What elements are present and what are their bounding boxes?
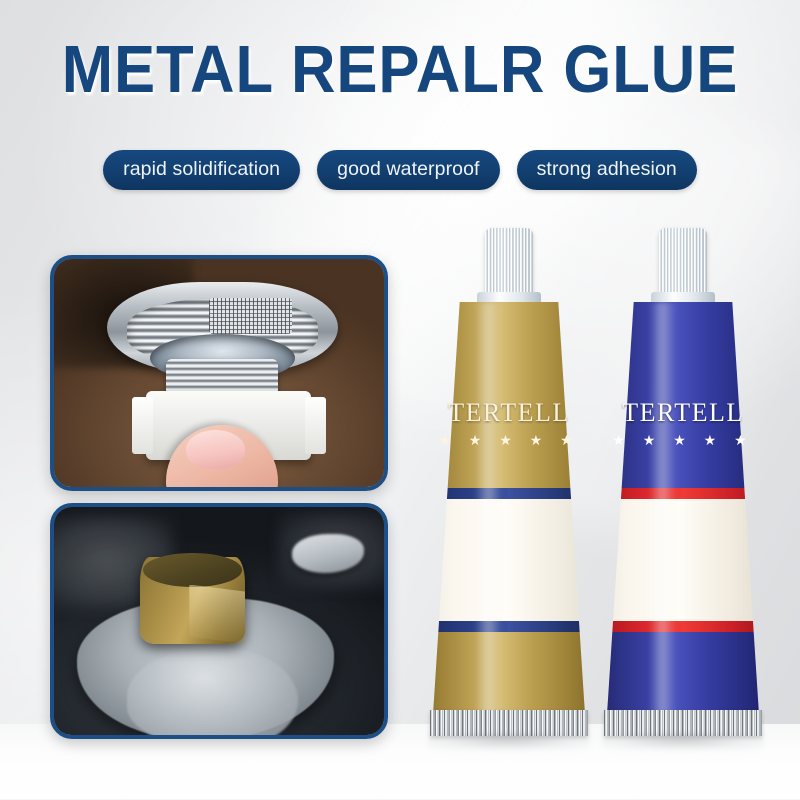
tube-stripe-bottom — [424, 621, 594, 632]
feature-badge-list: rapid solidification good waterproof str… — [0, 150, 800, 190]
feature-badge-strong-adhesion: strong adhesion — [517, 150, 697, 190]
tube-crimped-seal — [604, 710, 762, 736]
product-tube-b: TERTELL ★ ★ ★ ★ ★ B — [424, 228, 594, 733]
pipe-fitting-illustration — [54, 259, 384, 487]
tube-brand-name: TERTELL — [598, 398, 768, 428]
tube-stripe-top — [598, 488, 768, 499]
tube-body — [424, 302, 594, 722]
tube-label-band — [598, 499, 768, 621]
tube-lower-color-band — [598, 632, 768, 722]
brass-hex-bolt-facet — [189, 585, 245, 644]
tube-star-rating: ★ ★ ★ ★ ★ — [598, 432, 768, 449]
feature-badge-rapid-solidification: rapid solidification — [103, 150, 300, 190]
tube-star-rating: ★ ★ ★ ★ ★ — [424, 432, 594, 449]
tube-cap — [659, 228, 707, 300]
product-tube-a: TERTELL ★ ★ ★ ★ ★ A — [598, 228, 768, 733]
photo-inset-pipe-fitting — [50, 255, 388, 491]
tube-stripe-top — [424, 488, 594, 499]
tube-component-letter: B — [424, 794, 594, 800]
photo-inset-bolt-putty — [50, 503, 388, 739]
tube-shadow — [602, 734, 764, 750]
knurled-texture — [209, 298, 292, 334]
tube-lower-color-band — [424, 632, 594, 722]
epoxy-putty-highlight — [127, 648, 299, 739]
brass-hex-bolt-top — [143, 553, 242, 587]
tube-label-band — [424, 499, 594, 621]
tube-body — [598, 302, 768, 722]
tube-component-letter: A — [598, 794, 768, 800]
tube-brand-name: TERTELL — [424, 398, 594, 428]
tube-stripe-bottom — [598, 621, 768, 632]
tube-cap — [485, 228, 533, 300]
fingernail — [186, 430, 245, 469]
tube-crimped-seal — [430, 710, 588, 736]
tube-upper-color-band — [598, 302, 768, 488]
tube-upper-color-band — [424, 302, 594, 488]
tube-shadow — [428, 734, 590, 750]
product-advertisement-poster: METAL REPALR GLUE rapid solidification g… — [0, 0, 800, 800]
feature-badge-good-waterproof: good waterproof — [317, 150, 499, 190]
bolt-putty-illustration — [54, 507, 384, 735]
page-title: METAL REPALR GLUE — [32, 36, 768, 103]
